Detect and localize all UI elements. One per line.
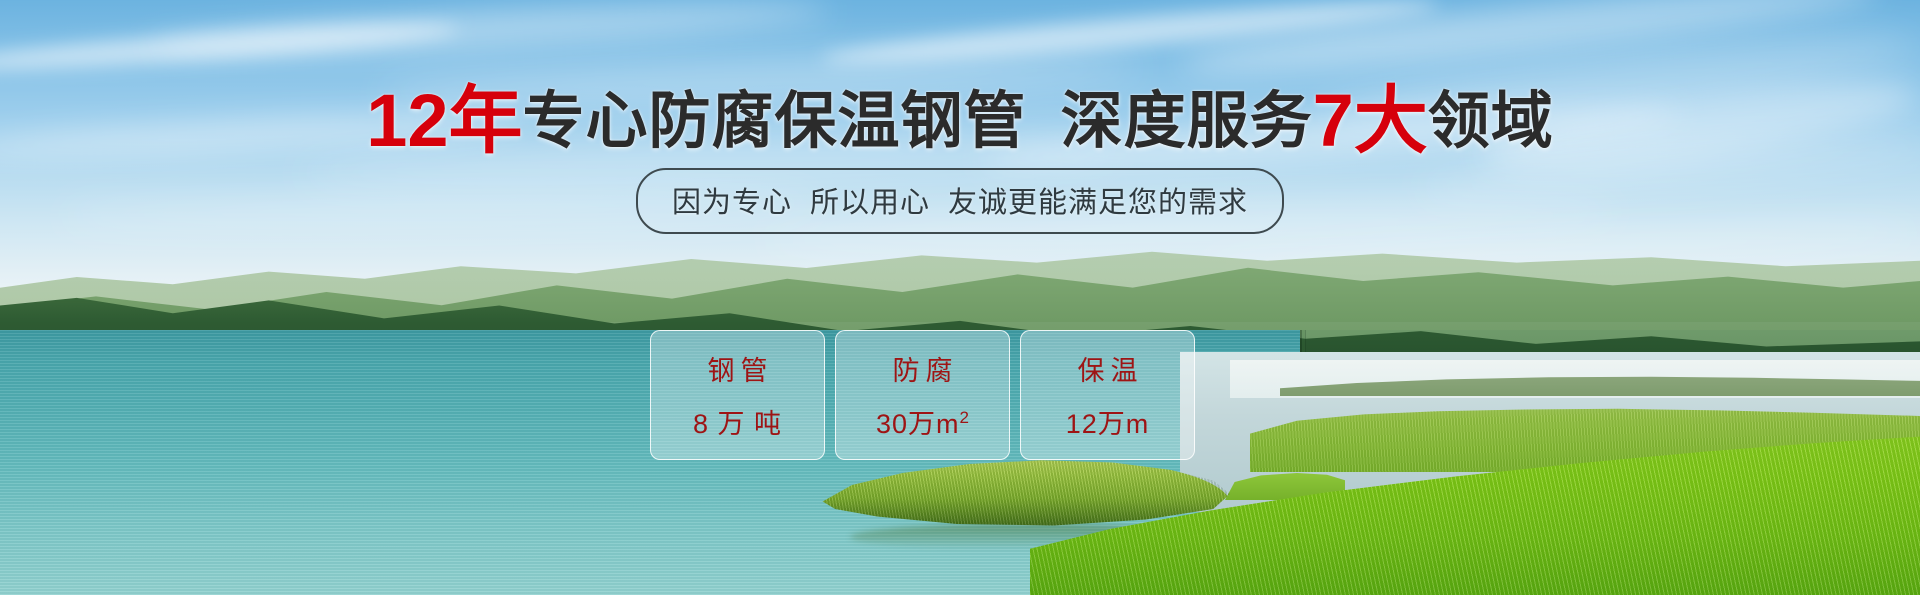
stat-card-anticorrosion[interactable]: 防腐 30万m2: [835, 330, 1010, 460]
stat-card-label: 钢管: [702, 349, 774, 388]
stat-card-label: 防腐: [887, 349, 959, 388]
subtitle-part-1: 因为专心: [672, 187, 792, 219]
stat-card-value-text: 12万m: [1066, 409, 1150, 439]
banner-subtitle-pill: 因为专心所以用心友诚更能满足您的需求: [636, 168, 1284, 234]
stat-card-value: 30万m2: [876, 402, 969, 441]
headline-middle: 专心防腐保温钢管: [523, 87, 1027, 156]
stat-card-value-text: 8 万 吨: [693, 409, 782, 439]
stat-card-value: 8 万 吨: [693, 402, 782, 441]
stat-card-value: 12万m: [1066, 402, 1150, 441]
stat-card-steel-pipe[interactable]: 钢管 8 万 吨: [650, 330, 825, 460]
headline-service: 深度服务: [1061, 87, 1313, 156]
stat-card-group: 钢管 8 万 吨 防腐 30万m2 保温 12万m: [650, 330, 1195, 460]
banner-subtitle-wrap: 因为专心所以用心友诚更能满足您的需求: [0, 168, 1920, 234]
banner-headline: 12年专心防腐保温钢管深度服务7大领域: [0, 84, 1920, 158]
headline-tail: 领域: [1428, 87, 1554, 156]
headline-fields: 7大: [1313, 79, 1428, 162]
hero-banner: 12年专心防腐保温钢管深度服务7大领域 因为专心所以用心友诚更能满足您的需求 钢…: [0, 0, 1920, 595]
subtitle-part-3: 友诚更能满足您的需求: [948, 187, 1248, 219]
stat-card-value-text: 30万m: [876, 409, 960, 439]
headline-years: 12年: [366, 79, 522, 162]
stat-card-value-superscript: 2: [960, 408, 969, 427]
stat-card-label: 保温: [1072, 349, 1144, 388]
subtitle-part-2: 所以用心: [810, 187, 930, 219]
stat-card-insulation[interactable]: 保温 12万m: [1020, 330, 1195, 460]
